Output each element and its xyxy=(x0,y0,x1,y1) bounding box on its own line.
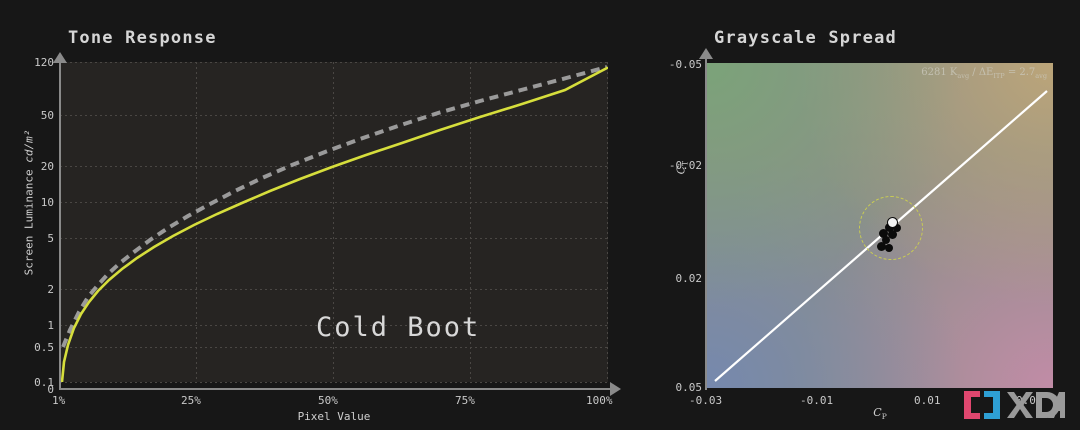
tone-response-plot-area: Cold Boot xyxy=(60,62,608,382)
tone-y-axis-label: Screen Luminance cd/m² xyxy=(23,78,36,328)
tone-response-chart-panel: Tone Response Cold Boot xyxy=(0,0,660,430)
grayscale-annotation-value-sub: avg xyxy=(1035,72,1047,80)
grayscale-spread-title: Grayscale Spread xyxy=(714,28,897,48)
grayscale-y-tick: 0.02 xyxy=(650,272,702,285)
grayscale-plot-area: 6281 Kavg / ΔEITP = 2.7avg xyxy=(707,63,1053,388)
reference-gamma-curve xyxy=(63,67,607,347)
grayscale-data-point xyxy=(885,244,893,252)
grayscale-y-tick: -0.05 xyxy=(650,58,702,71)
grayscale-y-axis-label-sub: T xyxy=(681,161,690,166)
grayscale-x-axis-label-sub: P xyxy=(882,412,887,421)
tone-y-tick: 2 xyxy=(47,283,54,296)
grayscale-x-axis-label-text: C xyxy=(873,406,881,419)
grayscale-annotation-mid: / ΔE xyxy=(969,67,993,78)
grayscale-y-axis-label: CT xyxy=(674,138,689,198)
tone-y-tick: 10 xyxy=(41,196,54,209)
tone-response-title: Tone Response xyxy=(68,28,217,48)
tone-y-tick: 20 xyxy=(41,160,54,173)
tone-y-axis-label-text: Screen Luminance xyxy=(23,169,36,275)
tone-x-tick: 100% xyxy=(586,394,613,407)
grayscale-annotation-kelvin: 6281 K xyxy=(921,67,957,78)
grayscale-y-axis-label-text: C xyxy=(674,166,687,174)
grayscale-annotation-value: = 2.7 xyxy=(1005,67,1036,78)
tone-x-axis-line xyxy=(59,388,612,390)
xda-logo-icon xyxy=(960,388,1068,422)
tone-gridline-h xyxy=(60,382,608,383)
tone-x-tick: 1% xyxy=(52,394,65,407)
xda-watermark xyxy=(960,388,1068,422)
tone-y-tick: 0.5 xyxy=(34,341,54,354)
tone-y-tick: 5 xyxy=(47,232,54,245)
tone-y-tick: 50 xyxy=(41,109,54,122)
tone-y-axis-label-unit: cd/m² xyxy=(23,130,36,163)
tone-chart-annotation: Cold Boot xyxy=(316,312,480,343)
tone-x-tick: 75% xyxy=(455,394,475,407)
screenshot-root: Tone Response Cold Boot xyxy=(0,0,1080,430)
tone-x-axis-label: Pixel Value xyxy=(60,410,608,423)
grayscale-annotation: 6281 Kavg / ΔEITP = 2.7avg xyxy=(921,67,1047,80)
grayscale-annotation-itp-sub: ITP xyxy=(993,72,1004,80)
tone-y-axis-arrow-icon xyxy=(53,52,67,63)
tone-x-tick: 25% xyxy=(181,394,201,407)
tone-x-tick: 50% xyxy=(318,394,338,407)
tone-y-axis-line xyxy=(59,62,61,389)
grayscale-data-point-white xyxy=(887,217,898,228)
tone-y-tick: 1 xyxy=(47,319,54,332)
grayscale-spread-chart-panel: Grayscale Spread 6281 Kavg / ΔEITP = 2.7… xyxy=(660,0,1080,430)
grayscale-annotation-kelvin-sub: avg xyxy=(957,72,969,80)
tone-y-tick: 120 xyxy=(34,56,54,69)
grayscale-y-axis-line xyxy=(705,58,707,390)
grayscale-y-tick: 0.05 xyxy=(650,381,702,394)
tone-y-tick-zero: 0 xyxy=(0,383,54,396)
